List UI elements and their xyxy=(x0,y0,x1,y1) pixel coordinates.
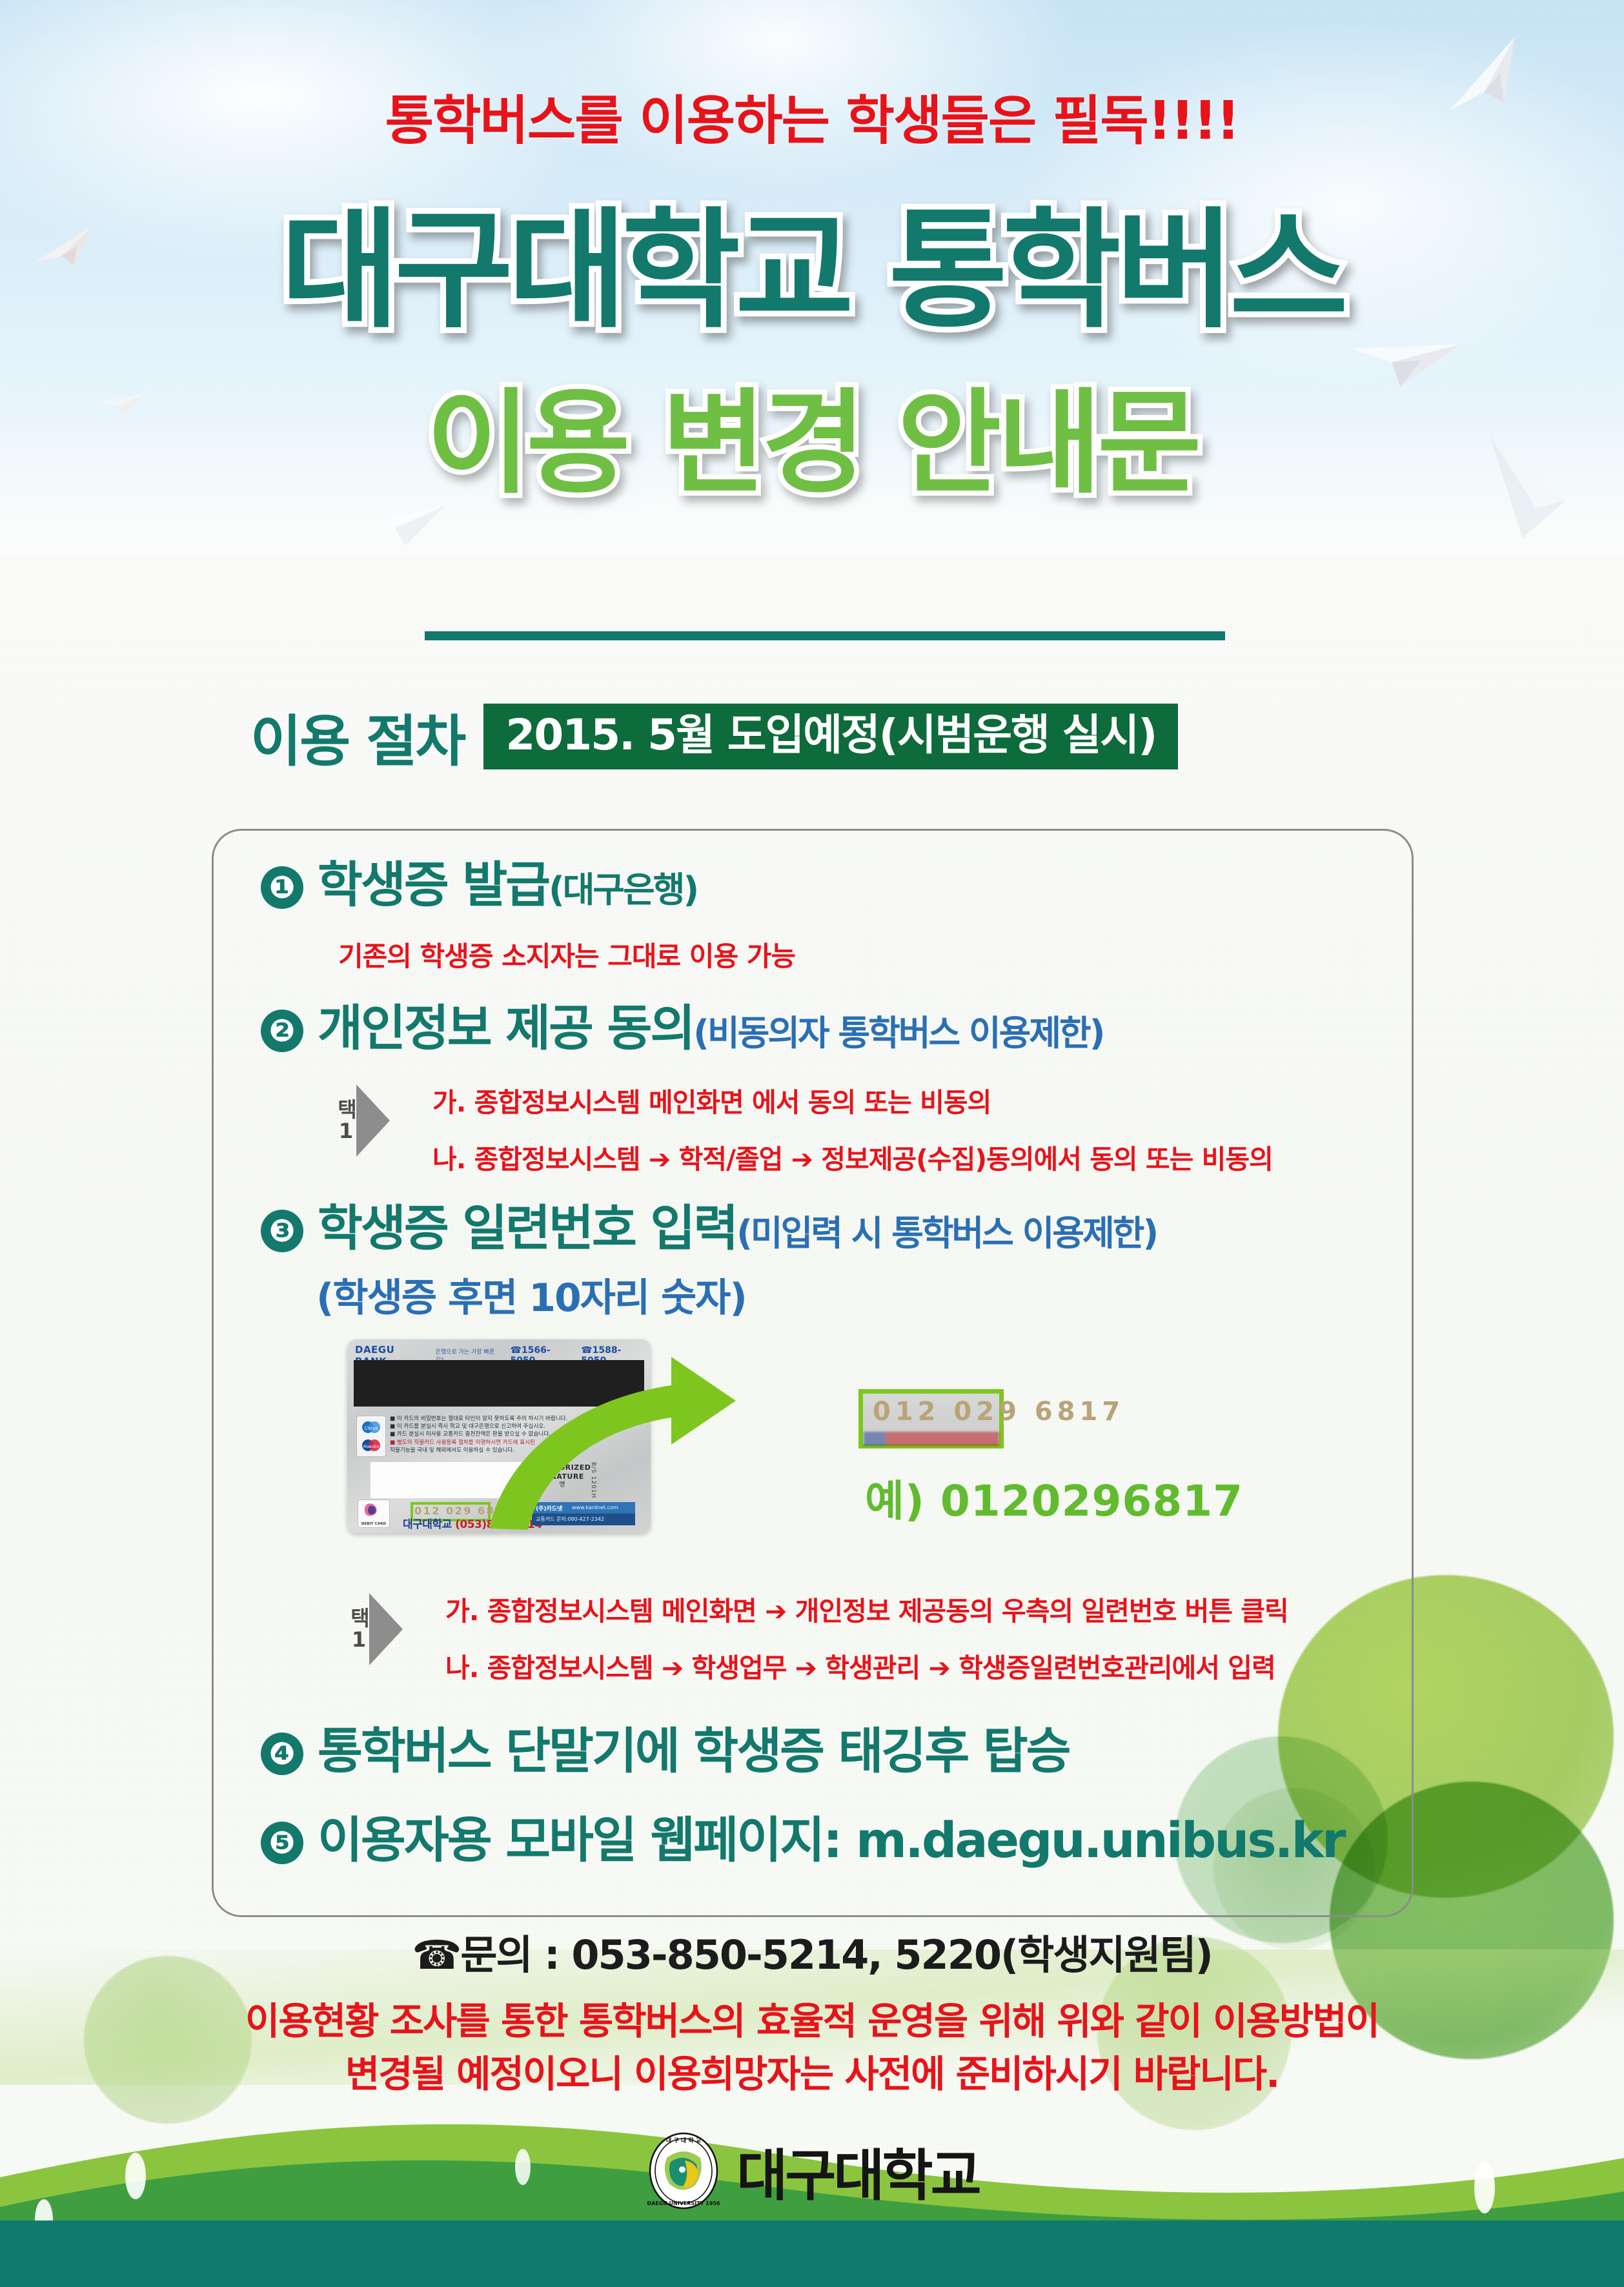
section-badge: 2015. 5월 도입예정(시범운행 실시) xyxy=(483,704,1178,769)
pick-option: 나. 종합정보시스템 ➔ 학생업무 ➔ 학생관리 ➔ 학생증일련번호관리에서 입… xyxy=(445,1646,1288,1685)
step-number-badge: ❸ xyxy=(261,1210,303,1252)
step-number-badge: ❷ xyxy=(261,1010,303,1052)
step-title-2: 개인정보 제공 동의(비동의자 통학버스 이용제한) xyxy=(318,1002,1103,1055)
pick-option: 나. 종합정보시스템 ➔ 학적/졸업 ➔ 정보제공(수집)동의에서 동의 또는 … xyxy=(432,1137,1273,1176)
bottom-color-bar xyxy=(0,2221,1624,2287)
card-side-code: B/S 1201H xyxy=(590,1462,596,1498)
card-note: ■ 별도의 직불카드 사용등록 절차를 이행하시면 카드에 표시된 xyxy=(390,1439,596,1447)
cirrus-icon: Cirrus xyxy=(360,1419,382,1436)
step-item-4: ❹ 통학버스 단말기에 학생증 태깅후 탑승 xyxy=(261,1725,1070,1778)
card-note: 직불기능을 국내 및 해외에서도 이용하실 수 있습니다. xyxy=(390,1447,596,1454)
kardnet-url: www.kardnet.com xyxy=(572,1505,618,1510)
poster-root: 통학버스를 이용하는 학생들은 필독!!!! 대구대학교 통학버스 이용 변경 … xyxy=(0,0,1624,2287)
pick-arrow-icon xyxy=(356,1084,390,1157)
university-emblem-icon: 대 구 대 학 교 DAEGU UNIVERSITY 1956 xyxy=(645,2132,722,2210)
svg-text:Cirrus: Cirrus xyxy=(365,1426,378,1431)
section-label: 이용 절차 xyxy=(250,696,464,777)
pick-one-label: 택1 xyxy=(336,1099,356,1143)
card-magnetic-stripe xyxy=(354,1360,644,1407)
pick-options-3: 가. 종합정보시스템 메인화면 ➔ 개인정보 제공동의 우측의 일련번호 버튼 … xyxy=(445,1589,1288,1703)
pick-one-marker-2: 택1 가. 종합정보시스템 메인화면 에서 동의 또는 비동의 나. 종합정보시… xyxy=(336,1084,390,1157)
page-title-line2: 이용 변경 안내문 xyxy=(0,387,1624,500)
contact-line: ☎문의 : 053-850-5214, 5220(학생지원팀) xyxy=(0,1922,1624,1980)
step-paren-1: (대구은행) xyxy=(549,869,697,910)
step-title-1: 학생증 발급(대구은행) xyxy=(318,859,697,911)
step-subnote-1: 기존의 학생증 소지자는 그대로 이용 가능 xyxy=(338,935,795,974)
svg-text:Maestro: Maestro xyxy=(363,1445,379,1449)
serial-zoom-number: 012 029 6817 xyxy=(873,1397,1124,1427)
step-item-3: ❸ 학생증 일련번호 입력(미입력 시 통학버스 이용제한) xyxy=(261,1202,1157,1255)
step-number-badge: ❺ xyxy=(261,1822,303,1864)
pick-arrow-icon xyxy=(369,1593,403,1665)
step-paren-3: (미입력 시 통학버스 이용제한) xyxy=(736,1213,1157,1254)
card-school-tel: 대구대학교 (053)850-5114 xyxy=(403,1515,542,1531)
notice-line-1: 이용현황 조사를 통한 통학버스의 효율적 운영을 위해 위와 같이 이용방법이 xyxy=(0,1995,1624,2048)
debit-mark-icon xyxy=(358,1500,389,1520)
section-header: 이용 절차 2015. 5월 도입예정(시범운행 실시) xyxy=(250,696,1178,777)
card-debit-logo: DEBIT CARD xyxy=(358,1499,390,1528)
title-divider xyxy=(425,631,1225,640)
pick-one-marker-3: 택1 가. 종합정보시스템 메인화면 ➔ 개인정보 제공동의 우측의 일련번호 … xyxy=(349,1593,403,1665)
svg-text:대 구 대 학 교: 대 구 대 학 교 xyxy=(666,2137,701,2144)
step-title-3: 학생증 일련번호 입력(미입력 시 통학버스 이용제한) xyxy=(318,1202,1157,1255)
university-name: 대구대학교 xyxy=(736,2130,979,2211)
step-item-1: ❶ 학생증 발급(대구은행) xyxy=(261,859,697,911)
card-note: ■ 이 카드의 비밀번호는 절대로 타인이 알지 못하도록 주의 하시기 바랍니… xyxy=(390,1415,596,1423)
card-note: ■ 이 카드를 분실시 즉시 학교 및 대구은행으로 신고하여 주십시오. xyxy=(390,1423,596,1430)
svg-text:DAEGU UNIVERSITY 1956: DAEGU UNIVERSITY 1956 xyxy=(647,2201,721,2206)
step-number-badge: ❶ xyxy=(261,866,303,909)
bank-card-image: DAEGU BANK 은행으로 가는 가장 빠른 길? ☎1566-5050 ☎… xyxy=(347,1339,651,1533)
pick-option: 가. 종합정보시스템 메인화면 에서 동의 또는 비동의 xyxy=(432,1081,1273,1119)
step-subline-3: (학생증 후면 10자리 숫자) xyxy=(316,1266,746,1323)
serial-example-label: 예) 0120296817 xyxy=(865,1467,1243,1529)
step-title-5: 이용자용 모바일 웹페이지: m.daegu.unibus.kr xyxy=(318,1814,1344,1867)
kicker-text: 통학버스를 이용하는 학생들은 필독!!!! xyxy=(0,77,1624,154)
pick-option: 가. 종합정보시스템 메인화면 ➔ 개인정보 제공동의 우측의 일련번호 버튼 … xyxy=(445,1589,1288,1628)
step-item-5: ❺ 이용자용 모바일 웹페이지: m.daegu.unibus.kr xyxy=(261,1814,1344,1867)
pick-options-2: 가. 종합정보시스템 메인화면 에서 동의 또는 비동의 나. 종합정보시스템 … xyxy=(432,1081,1273,1194)
pick-one-label: 택1 xyxy=(349,1607,369,1651)
maestro-icon: Maestro xyxy=(360,1437,382,1454)
kardnet-inquiry: 교통카드 문의:080-427-2342 xyxy=(536,1516,604,1523)
card-debit-label: DEBIT CARD xyxy=(358,1522,389,1526)
card-note: ■ 카드 분실시 미사용 교통카드 충전잔액은 환불 받으실 수 없습니다. xyxy=(390,1430,596,1438)
card-notes: ■ 이 카드의 비밀번호는 절대로 타인이 알지 못하도록 주의 하시기 바랍니… xyxy=(390,1415,596,1454)
step-item-2: ❷ 개인정보 제공 동의(비동의자 통학버스 이용제한) xyxy=(261,1002,1103,1055)
card-signature-panel xyxy=(370,1462,525,1498)
card-network-logos: Cirrus Maestro xyxy=(356,1416,386,1457)
page-title-line1: 대구대학교 통학버스 xyxy=(0,207,1624,336)
kardnet-name: (주)카드넷 xyxy=(536,1504,562,1512)
step-paren-2: (비동의자 통학버스 이용제한) xyxy=(693,1013,1103,1053)
serial-zoom-blurred-line xyxy=(864,1432,999,1446)
card-kardnet-panel: (주)카드넷 www.kardnet.com 교통카드 문의:080-427-2… xyxy=(532,1502,635,1525)
step-title-4: 통학버스 단말기에 학생증 태깅후 탑승 xyxy=(318,1725,1070,1778)
step-number-badge: ❹ xyxy=(261,1733,303,1775)
card-authorized-signature-label: AUTHORIZED SIGNATURE 서 명 xyxy=(536,1463,591,1489)
footer-branding: 대 구 대 학 교 DAEGU UNIVERSITY 1956 대구대학교 xyxy=(0,2130,1624,2211)
